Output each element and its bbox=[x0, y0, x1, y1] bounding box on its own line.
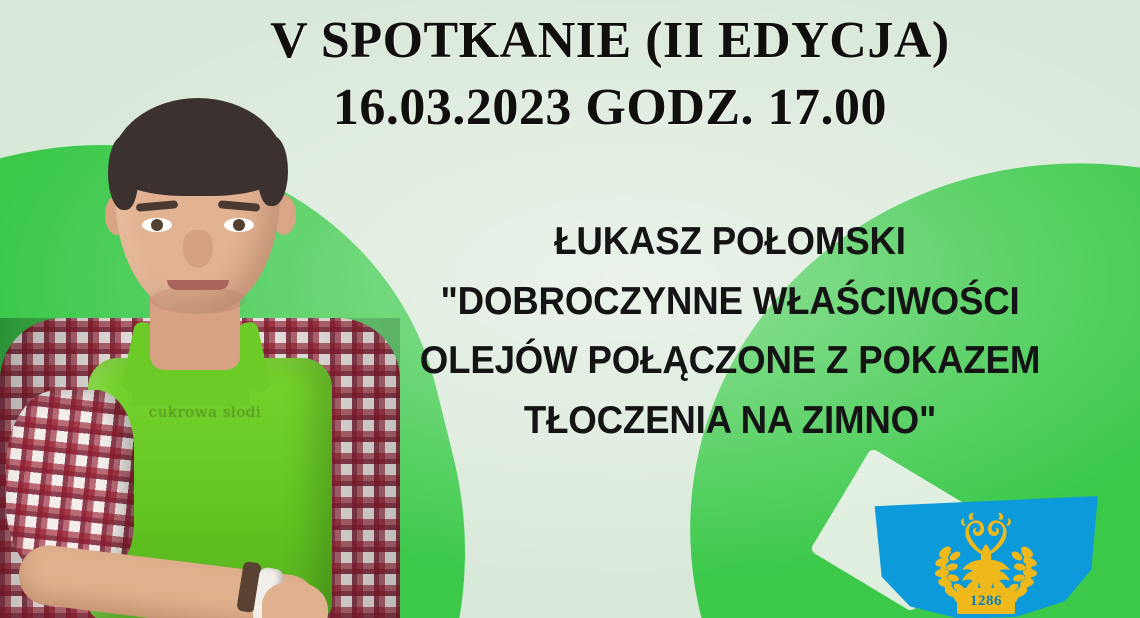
nose bbox=[183, 230, 213, 268]
coat-of-arms: 1286 bbox=[872, 500, 1100, 618]
chin-shadow bbox=[150, 286, 246, 314]
hair-side-left bbox=[108, 136, 138, 210]
headline-line-1: V SPOTKANIE (II EDYCJA) bbox=[160, 8, 1060, 75]
hair-side-right bbox=[258, 136, 288, 206]
eye-left bbox=[142, 218, 172, 232]
speaker-name: ŁUKASZ POŁOMSKI bbox=[354, 212, 1106, 272]
lecture-title-line-3: TŁOCZENIA NA ZIMNO" bbox=[354, 391, 1106, 451]
poster-body-text: ŁUKASZ POŁOMSKI "DOBROCZYNNE WŁAŚCIWOŚCI… bbox=[330, 212, 1130, 451]
lecture-title-line-2: OLEJÓW POŁĄCZONE Z POKAZEM bbox=[354, 331, 1106, 391]
poster-headline: V SPOTKANIE (II EDYCJA) 16.03.2023 GODZ.… bbox=[160, 8, 1060, 141]
headline-line-2: 16.03.2023 GODZ. 17.00 bbox=[160, 75, 1060, 142]
eye-right bbox=[224, 218, 254, 232]
mouth bbox=[167, 280, 229, 290]
lecture-title-line-1: "DOBROCZYNNE WŁAŚCIWOŚCI bbox=[354, 272, 1106, 332]
apron-printed-text: cukrowa słodi bbox=[140, 402, 270, 422]
event-poster: cukrowa słodi V SPOTKANIE (II EDYCJA) 16… bbox=[0, 0, 1140, 618]
crest-year-banner: 1286 bbox=[957, 588, 1015, 614]
